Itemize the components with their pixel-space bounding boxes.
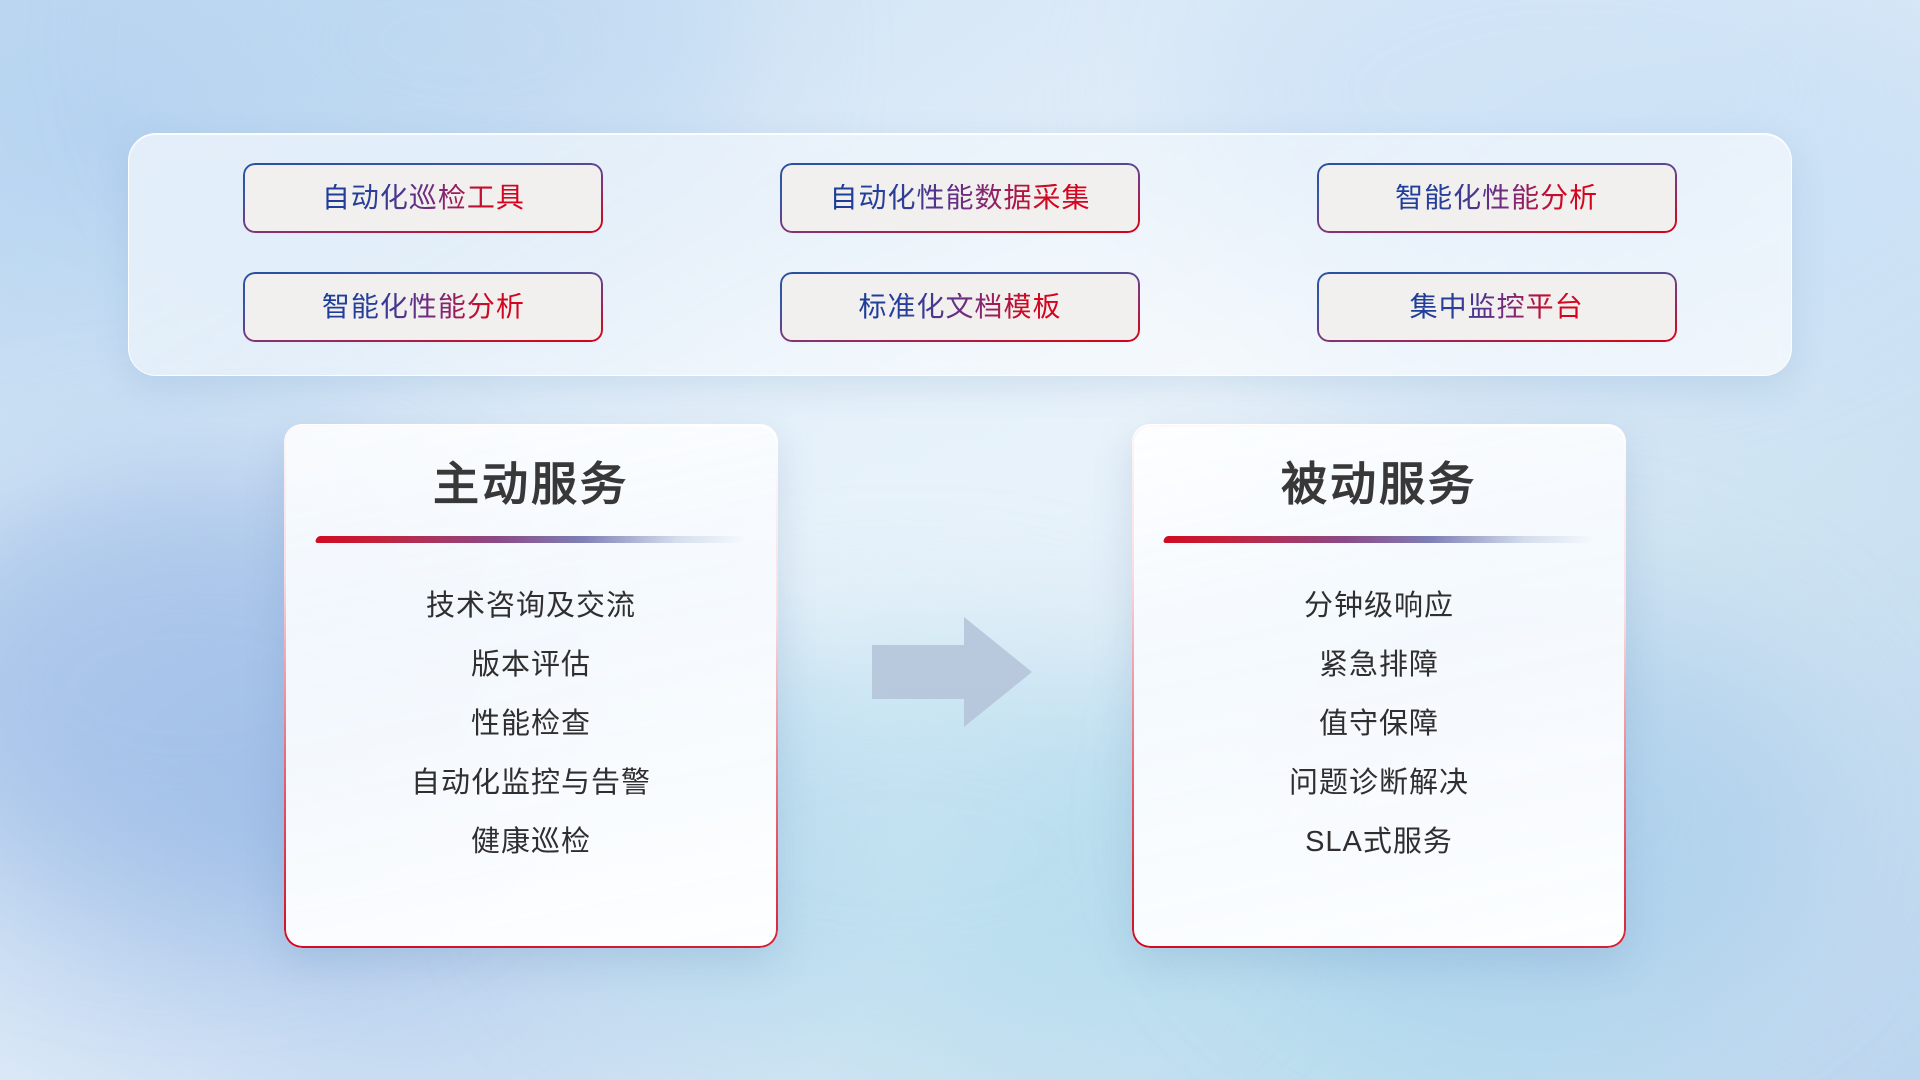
capability-tag-label: 智能化性能分析	[322, 293, 525, 321]
capability-tag[interactable]: 智能化性能分析	[245, 274, 601, 340]
capability-tag-label: 集中监控平台	[1410, 293, 1584, 321]
reactive-service-card: 被动服务 分钟级响应 紧急排障 值守保障 问题诊断解决 SLA式服务	[1132, 424, 1626, 948]
card-divider	[1163, 536, 1596, 543]
list-item: 问题诊断解决	[1132, 754, 1626, 813]
list-item: 性能检查	[284, 695, 778, 754]
capability-tag[interactable]: 智能化性能分析	[1319, 165, 1675, 231]
slide-canvas: 自动化巡检工具 自动化性能数据采集 智能化性能分析 智能化性能分析 标准化文档模…	[0, 0, 1920, 1080]
capability-tag[interactable]: 自动化巡检工具	[245, 165, 601, 231]
capability-tag[interactable]: 集中监控平台	[1319, 274, 1675, 340]
list-item: 分钟级响应	[1132, 577, 1626, 636]
card-title: 被动服务	[1132, 459, 1626, 510]
list-item: 版本评估	[284, 636, 778, 695]
list-item: 健康巡检	[284, 813, 778, 872]
capability-tag-label: 智能化性能分析	[1395, 184, 1598, 212]
proactive-service-card: 主动服务 技术咨询及交流 版本评估 性能检查 自动化监控与告警 健康巡检	[284, 424, 778, 948]
capability-tag[interactable]: 标准化文档模板	[782, 274, 1138, 340]
capability-tag-label: 标准化文档模板	[858, 293, 1061, 321]
list-item: 紧急排障	[1132, 636, 1626, 695]
capability-tag-label: 自动化性能数据采集	[829, 184, 1090, 212]
capability-tag[interactable]: 自动化性能数据采集	[782, 165, 1138, 231]
capability-tags-panel: 自动化巡检工具 自动化性能数据采集 智能化性能分析 智能化性能分析 标准化文档模…	[128, 133, 1792, 376]
right-arrow-icon	[872, 617, 1032, 727]
card-title: 主动服务	[284, 459, 778, 510]
proactive-service-list: 技术咨询及交流 版本评估 性能检查 自动化监控与告警 健康巡检	[284, 577, 778, 872]
reactive-service-list: 分钟级响应 紧急排障 值守保障 问题诊断解决 SLA式服务	[1132, 577, 1626, 872]
list-item: 技术咨询及交流	[284, 577, 778, 636]
capability-tag-label: 自动化巡检工具	[322, 184, 525, 212]
list-item: 自动化监控与告警	[284, 754, 778, 813]
list-item: SLA式服务	[1132, 813, 1626, 872]
list-item: 值守保障	[1132, 695, 1626, 754]
card-divider	[315, 536, 748, 543]
